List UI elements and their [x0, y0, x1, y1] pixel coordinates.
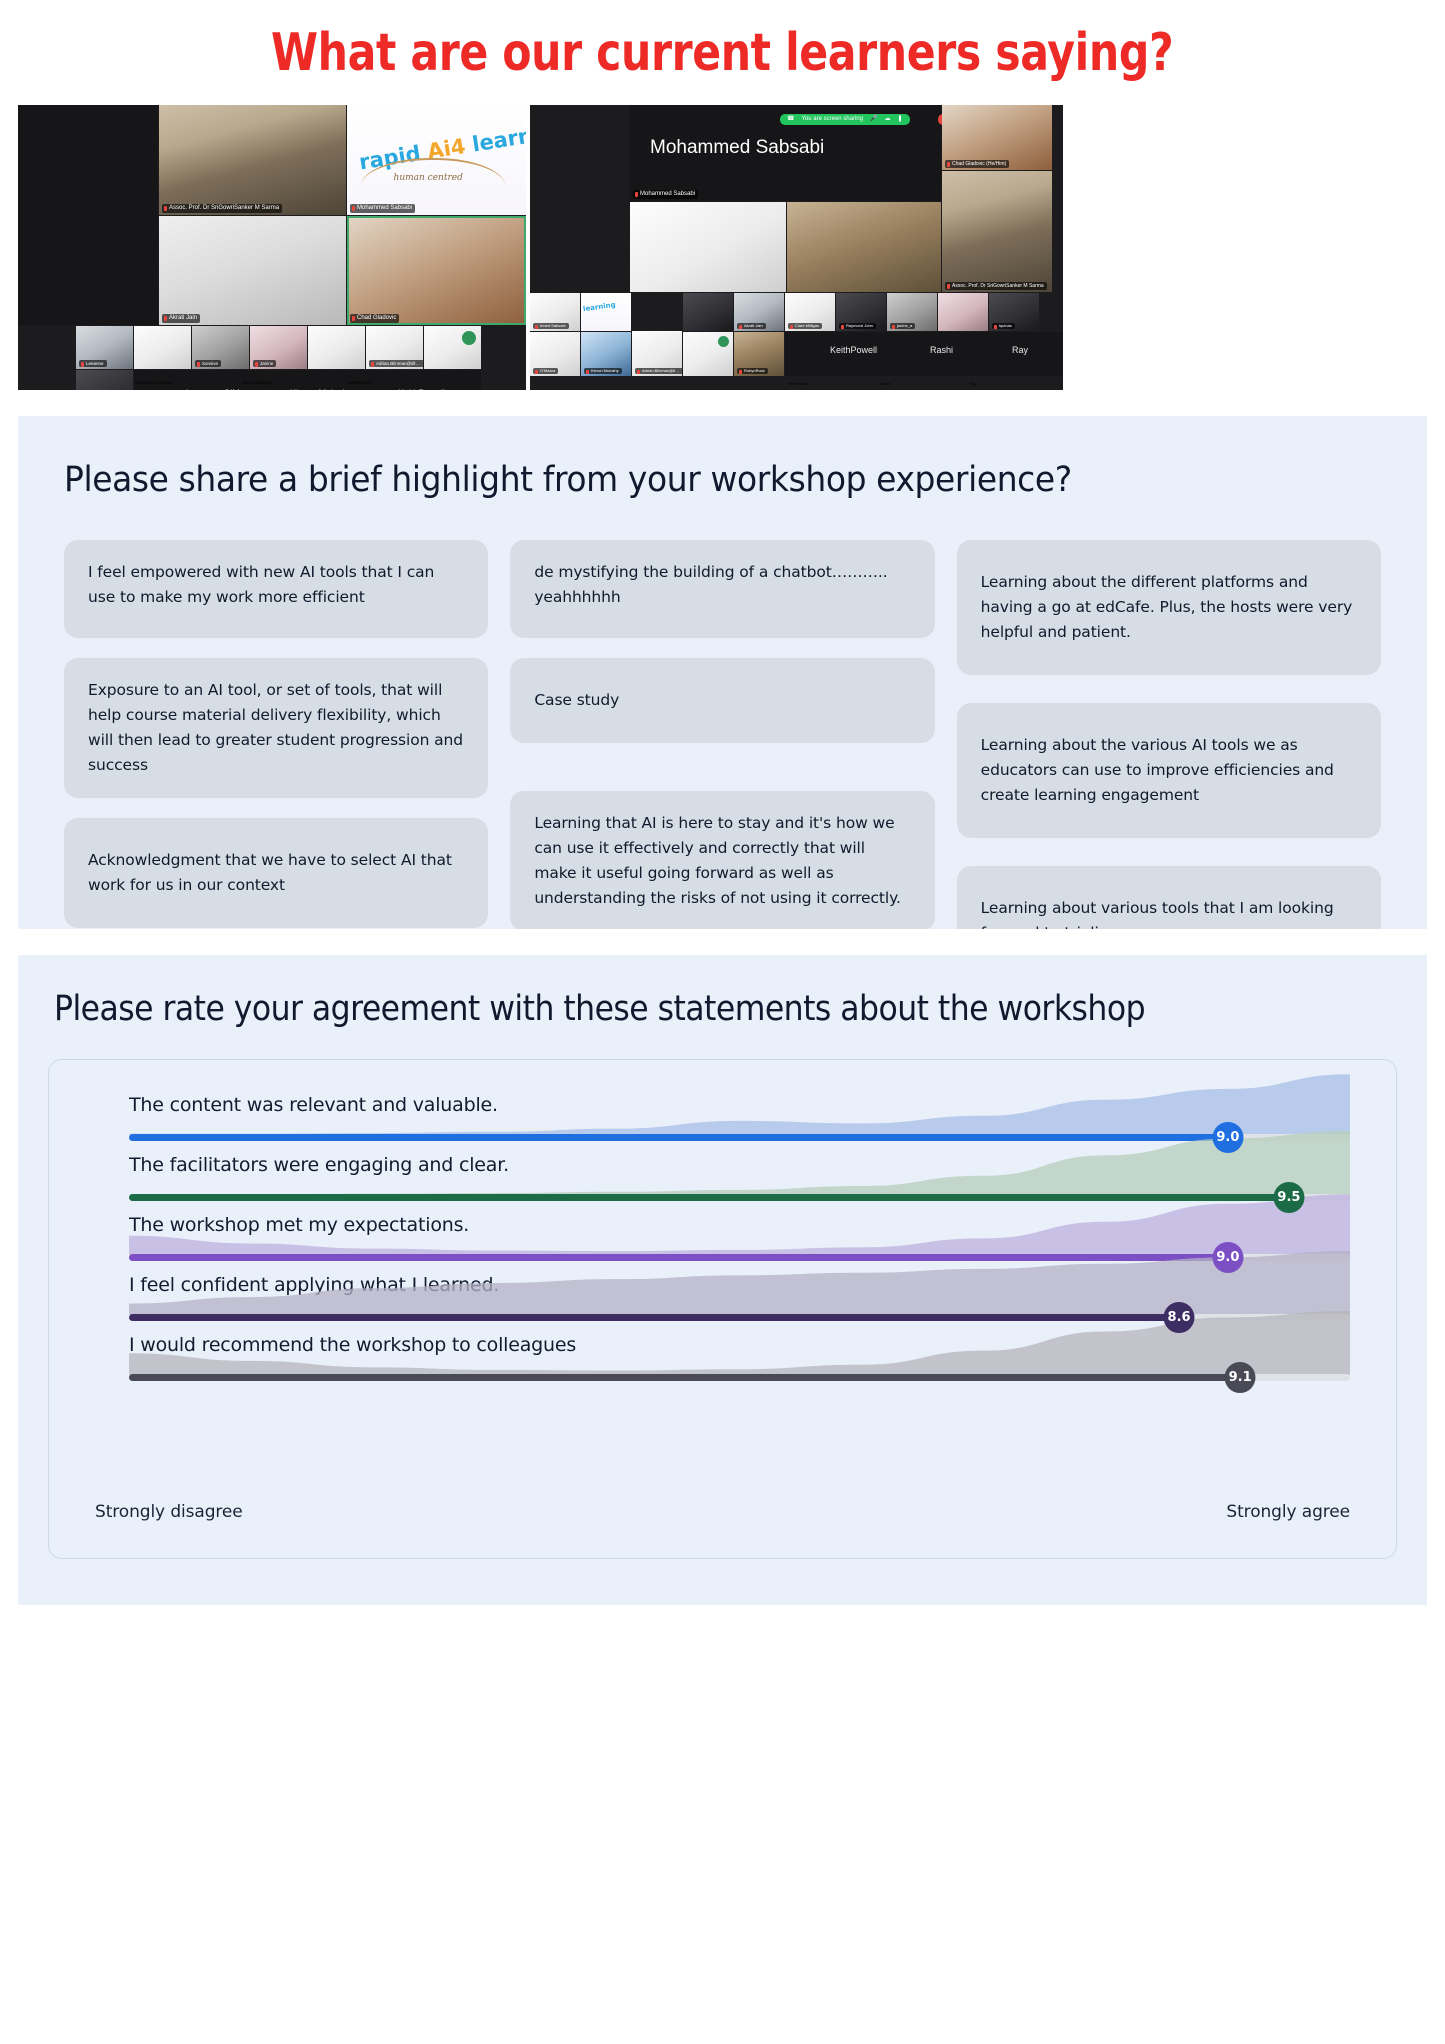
video-tile: Adrian.Blinman@tilly.com.au [366, 326, 423, 369]
participant-name: Rashi [880, 381, 890, 387]
video-tile: Sonsive [192, 326, 249, 369]
rating-statement: The facilitators were engaging and clear… [129, 1154, 509, 1176]
participant-big-label: Rashi [930, 345, 953, 355]
video-tile: Akrati Jain [734, 293, 784, 331]
rating-row: The content was relevant and valuable.9.… [95, 1094, 1350, 1154]
participant-big-label: Kieron Mulcahy [290, 388, 352, 390]
scale-min-label: Strongly disagree [95, 1502, 243, 1522]
rating-fill [129, 1134, 1228, 1141]
brand-tagline: human centred [394, 173, 463, 183]
participant-name: Kieron Mulcahy [242, 379, 273, 386]
org-logo-icon [462, 331, 476, 345]
video-tile [938, 293, 988, 331]
page-title: What are our current learners saying? [271, 23, 1173, 83]
participant-name: Adrian.Blinman@tilly.com.au [369, 360, 423, 367]
video-tile [630, 202, 786, 292]
rating-row: The facilitators were engaging and clear… [95, 1154, 1350, 1214]
rating-value-badge: 9.5 [1273, 1182, 1304, 1213]
video-tile: janine_a [887, 293, 937, 331]
video-tile: Janine [250, 326, 307, 369]
highlight-card: Learning that AI is here to stay and it'… [510, 791, 934, 929]
participant-name: KeithPowell [348, 379, 372, 386]
video-tile-name-strip [134, 370, 481, 390]
highlights-card-grid: I feel empowered with new AI tools that … [64, 540, 1381, 929]
participant-name: hmed Sabsabi [533, 323, 569, 329]
video-tile-active-speaker: Chad Gladovic [347, 216, 526, 325]
brand-wordmark: learning [582, 301, 615, 313]
highlights-column-3: Learning about the different platforms a… [957, 540, 1381, 929]
video-tile: lquinas [989, 293, 1039, 331]
share-banner-text: You are screen sharing [801, 114, 863, 125]
highlight-card: de mystifying the building of a chatbot…… [510, 540, 934, 638]
participant-name: Janine [253, 360, 276, 367]
scale-legend: Strongly disagree Strongly agree [95, 1502, 1350, 1522]
ratings-question: Please rate your agreement with these st… [54, 989, 1263, 1029]
video-tile: Raymond John [76, 370, 133, 390]
rating-slider[interactable]: 9.0 [129, 1253, 1350, 1262]
participant-name: Ray [970, 381, 977, 387]
video-tile: Raymond John [836, 293, 886, 331]
participant-name: Mohammed Sabsabi [633, 190, 698, 199]
highlight-card: Case study [510, 658, 934, 743]
participant-name: Leeanne O'Meara [136, 379, 172, 386]
rating-row: The workshop met my expectations.9.0 [95, 1214, 1350, 1274]
participant-name: Chad Gladovic (He/Him) [945, 160, 1009, 168]
video-tile [424, 326, 481, 369]
rating-slider[interactable]: 9.1 [129, 1373, 1350, 1382]
video-tile: Akrati Jain [159, 216, 346, 325]
highlight-card: Learning about various tools that I am l… [957, 866, 1381, 929]
participant-name: Akrati Jain [737, 323, 766, 329]
video-tile [18, 105, 158, 325]
cloud-icon: ☁ [884, 114, 890, 125]
participant-name: Assoc. Prof. Dr SriGowriSanker M Sarma [945, 282, 1047, 290]
highlight-card: Learning about the different platforms a… [957, 540, 1381, 675]
highlight-card: Learning about the various AI tools we a… [957, 703, 1381, 838]
participant-name: Akrati Jain [162, 314, 200, 323]
participant-name: Sonsive [195, 360, 221, 367]
rating-statement: The workshop met my expectations. [129, 1214, 469, 1236]
ratings-rows: The content was relevant and valuable.9.… [95, 1094, 1350, 1394]
ratings-section: Please rate your agreement with these st… [18, 955, 1427, 1605]
highlights-question: Please share a brief highlight from your… [64, 460, 1302, 500]
video-tile: RobynRock [734, 332, 784, 376]
highlight-card: Exposure to an AI tool, or set of tools,… [64, 658, 488, 798]
rating-value-badge: 9.1 [1225, 1362, 1256, 1393]
pause-icon: ❚ [897, 114, 902, 125]
highlights-section: Please share a brief highlight from your… [18, 416, 1427, 929]
video-tile: hmed Sabsabi [530, 293, 580, 331]
video-tile: Chad Gladovic (He/Him) [942, 105, 1052, 170]
zoom-screenshot-left: Assoc. Prof. Dr SriGowriSanker M Sarma r… [18, 105, 526, 390]
rating-statement: The content was relevant and valuable. [129, 1094, 498, 1116]
participant-name: Raymond John [839, 323, 876, 329]
participant-name: Clare Milligan [788, 323, 822, 329]
participant-name: Assoc. Prof. Dr SriGowriSanker M Sarma [162, 204, 282, 213]
participant-name: Adrian.Blinman@tilly.com.au [635, 368, 682, 374]
rating-fill [129, 1314, 1179, 1321]
participant-big-label: Ray [1012, 345, 1028, 355]
video-conference-screenshots: Assoc. Prof. Dr SriGowriSanker M Sarma r… [18, 105, 1427, 390]
ratings-panel: The content was relevant and valuable.9.… [48, 1059, 1397, 1559]
video-tile [787, 202, 941, 292]
zoom-screenshot-right: Mohammed Sabsabi ☎ You are screen sharin… [530, 105, 1063, 390]
highlight-card: I feel empowered with new AI tools that … [64, 540, 488, 638]
participant-name: Chad Gladovic [350, 314, 399, 323]
video-tile [308, 326, 365, 369]
rating-fill [129, 1254, 1228, 1261]
participant-name: Leeanne [79, 360, 107, 367]
phone-icon: ☎ [787, 114, 794, 125]
participant-name: Kieron Mulcahy [584, 368, 622, 374]
rating-fill [129, 1194, 1289, 1201]
video-tile-brand-slide: learning [581, 293, 631, 331]
highlights-column-1: I feel empowered with new AI tools that … [64, 540, 488, 929]
rating-fill [129, 1374, 1240, 1381]
video-tile [683, 293, 733, 331]
participant-big-label: KeithPowell [398, 388, 445, 390]
participant-name: O'Meara [533, 368, 558, 374]
video-tile: Leeanne [76, 326, 133, 369]
page-header: What are our current learners saying? [0, 0, 1445, 105]
org-logo-icon [718, 336, 729, 347]
video-tile: O'Meara [530, 332, 580, 376]
participant-name: Mohammed Sabsabi [350, 204, 415, 213]
video-tile: Assoc. Prof. Dr SriGowriSanker M Sarma [159, 105, 346, 215]
scale-max-label: Strongly agree [1226, 1502, 1350, 1522]
rating-slider[interactable]: 9.0 [129, 1133, 1350, 1142]
screen-sharing-banner: ☎ You are screen sharing 🎤 ☁ ❚ [780, 114, 910, 125]
rating-value-badge: 9.0 [1212, 1242, 1243, 1273]
rating-slider[interactable]: 8.6 [129, 1313, 1350, 1322]
participant-name: RobynRock [737, 368, 768, 374]
participant-name: KeithPowell [788, 381, 809, 387]
rating-value-badge: 8.6 [1164, 1302, 1195, 1333]
rating-row: I would recommend the workshop to collea… [95, 1334, 1350, 1394]
rating-value-badge: 9.0 [1212, 1122, 1243, 1153]
participant-big-label: Leeanne O'Meara [186, 388, 258, 390]
rating-statement: I feel confident applying what I learned… [129, 1274, 499, 1296]
rating-statement: I would recommend the workshop to collea… [129, 1334, 576, 1356]
video-tile: Assoc. Prof. Dr SriGowriSanker M Sarma [942, 171, 1052, 292]
video-tile-brand-slide: rapid Ai4 learning human centred Mohamme… [347, 105, 526, 215]
video-tile: Adrian.Blinman@tilly.com.au [632, 332, 682, 376]
participant-big-label: KeithPowell [830, 345, 877, 355]
highlights-column-2: de mystifying the building of a chatbot…… [510, 540, 934, 929]
highlight-card: Acknowledgment that we have to select AI… [64, 818, 488, 928]
participant-name: lquinas [992, 323, 1015, 329]
video-tile: Kieron Mulcahy [581, 332, 631, 376]
video-tile: Clare Milligan [785, 293, 835, 331]
shared-screen-name: Mohammed Sabsabi [650, 137, 824, 159]
participant-name: janine_a [890, 323, 915, 329]
video-tile [683, 332, 733, 376]
mic-icon: 🎤 [870, 114, 877, 125]
rating-row: I feel confident applying what I learned… [95, 1274, 1350, 1334]
video-tile [134, 326, 191, 369]
rating-slider[interactable]: 9.5 [129, 1193, 1350, 1202]
